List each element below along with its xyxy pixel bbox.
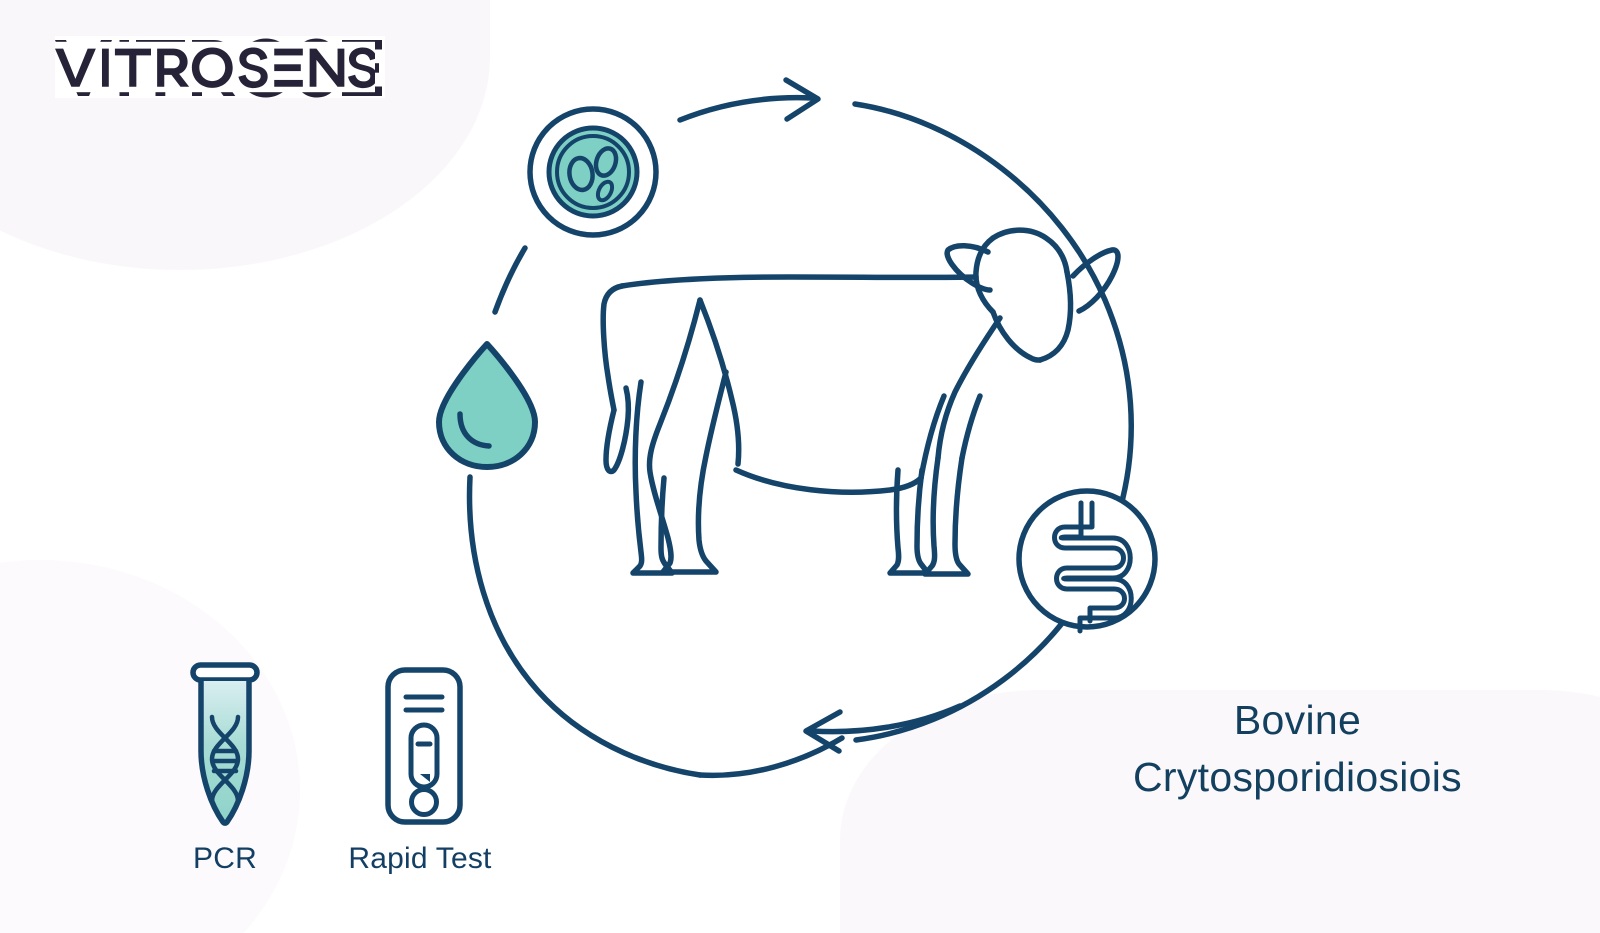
cow-ear-left bbox=[947, 246, 990, 290]
intestine-circle-border bbox=[1019, 491, 1155, 627]
pcr-label: PCR bbox=[130, 842, 320, 876]
disease-title-line-1: Bovine bbox=[1035, 692, 1560, 749]
cow-rump bbox=[603, 286, 622, 410]
cow-topline bbox=[622, 277, 976, 286]
rapid-test-label: Rapid Test bbox=[320, 842, 520, 876]
disease-title-line-2: Crytosporidiosiois bbox=[1035, 749, 1560, 806]
oocyst-parasite-icon bbox=[530, 109, 656, 235]
intestine-gut-icon bbox=[1019, 491, 1155, 631]
arrow-top-right bbox=[680, 80, 818, 120]
cow-head-top bbox=[993, 230, 1067, 272]
cow-belly bbox=[736, 470, 921, 492]
pcr-tube-cap bbox=[193, 665, 257, 680]
cow-front-leg-near-top bbox=[962, 396, 980, 458]
cow-head-right bbox=[1040, 272, 1071, 360]
illustration-canvas: PCR Rapid Test Bovine Crytosporidiosiois bbox=[0, 0, 1600, 933]
water-droplet-icon bbox=[439, 344, 535, 467]
sporozoite-left bbox=[567, 157, 594, 192]
cycle-arc-bottom bbox=[700, 738, 842, 775]
cycle-arc-upper-left bbox=[495, 248, 525, 312]
cassette-sample-well bbox=[412, 790, 437, 815]
cow-hind-leg-inner bbox=[700, 300, 739, 464]
arrow-bottom-left bbox=[806, 706, 960, 751]
rapid-test-cassette-icon bbox=[388, 670, 460, 822]
cassette-result-window bbox=[411, 725, 437, 787]
disease-title: Bovine Crytosporidiosiois bbox=[1035, 692, 1560, 805]
pcr-tube-icon bbox=[193, 665, 257, 823]
cycle-arc-right bbox=[855, 104, 1131, 740]
cow-front-leg-near bbox=[925, 458, 968, 574]
